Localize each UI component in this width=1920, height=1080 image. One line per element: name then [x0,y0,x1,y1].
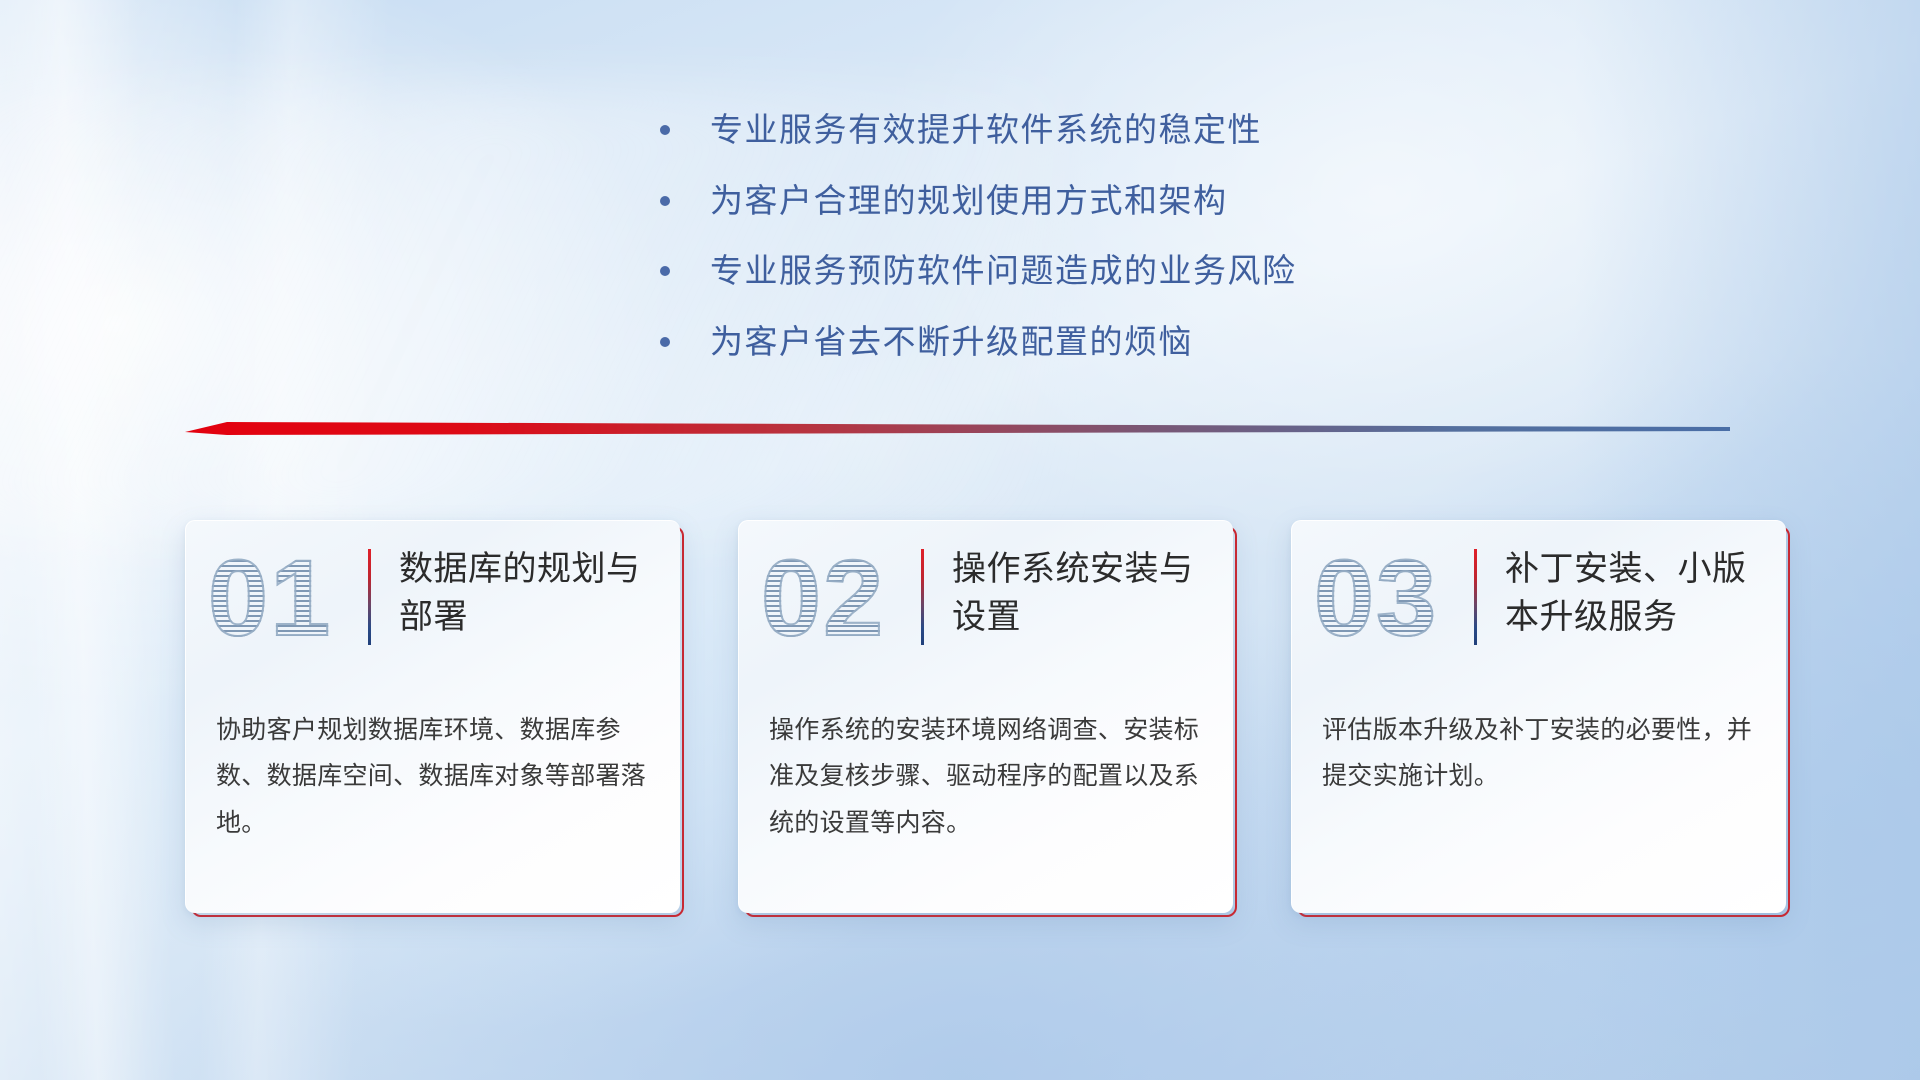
card-number: 02 [761,539,911,657]
bullet-text: 专业服务有效提升软件系统的稳定性 [710,108,1262,153]
bullet-dot-icon [660,266,670,276]
title-accent-bar-icon [368,549,371,645]
bullet-text: 为客户合理的规划使用方式和架构 [710,179,1228,224]
card-body-text: 评估版本升级及补丁安装的必要性，并提交实施计划。 [1322,707,1760,800]
list-item: 专业服务有效提升软件系统的稳定性 [660,108,1560,153]
card-panel: 02 操作系统安装与设置 操作系统的安装环境网络调查、安装标准及复核步骤、驱动程… [738,520,1233,913]
card-header: 03 补丁安装、小版本升级服务 [1292,521,1786,701]
card-title-block: 操作系统安装与设置 [921,545,1207,645]
card-header: 02 操作系统安装与设置 [739,521,1233,701]
card-title: 补丁安装、小版本升级服务 [1505,545,1760,642]
bullet-text: 专业服务预防软件问题造成的业务风险 [710,249,1297,294]
card-panel: 01 数据库的规划与部署 协助客户规划数据库环境、数据库参数、数据库空间、数据库… [185,520,680,913]
card-number: 03 [1314,539,1464,657]
bullet-dot-icon [660,337,670,347]
card-body-text: 操作系统的安装环境网络调查、安装标准及复核步骤、驱动程序的配置以及系统的设置等内… [769,707,1207,846]
section-divider [185,418,1730,444]
card-group: 01 数据库的规划与部署 协助客户规划数据库环境、数据库参数、数据库空间、数据库… [185,520,1785,913]
service-card-02[interactable]: 02 操作系统安装与设置 操作系统的安装环境网络调查、安装标准及复核步骤、驱动程… [738,520,1233,913]
card-title: 操作系统安装与设置 [952,545,1207,642]
card-title: 数据库的规划与部署 [399,545,654,642]
card-header: 01 数据库的规划与部署 [186,521,680,701]
service-card-01[interactable]: 01 数据库的规划与部署 协助客户规划数据库环境、数据库参数、数据库空间、数据库… [185,520,680,913]
card-title-block: 数据库的规划与部署 [368,545,654,645]
list-item: 为客户省去不断升级配置的烦恼 [660,320,1560,365]
card-panel: 03 补丁安装、小版本升级服务 评估版本升级及补丁安装的必要性，并提交实施计划。 [1291,520,1786,913]
card-number: 01 [208,539,358,657]
bullet-dot-icon [660,125,670,135]
card-title-block: 补丁安装、小版本升级服务 [1474,545,1760,645]
list-item: 专业服务预防软件问题造成的业务风险 [660,249,1560,294]
bullet-dot-icon [660,196,670,206]
bullet-text: 为客户省去不断升级配置的烦恼 [710,320,1193,365]
bullet-list: 专业服务有效提升软件系统的稳定性 为客户合理的规划使用方式和架构 专业服务预防软… [660,108,1560,390]
list-item: 为客户合理的规划使用方式和架构 [660,179,1560,224]
slide-canvas: 专业服务有效提升软件系统的稳定性 为客户合理的规划使用方式和架构 专业服务预防软… [0,0,1920,1080]
title-accent-bar-icon [1474,549,1477,645]
service-card-03[interactable]: 03 补丁安装、小版本升级服务 评估版本升级及补丁安装的必要性，并提交实施计划。 [1291,520,1786,913]
title-accent-bar-icon [921,549,924,645]
card-body-text: 协助客户规划数据库环境、数据库参数、数据库空间、数据库对象等部署落地。 [216,707,654,846]
